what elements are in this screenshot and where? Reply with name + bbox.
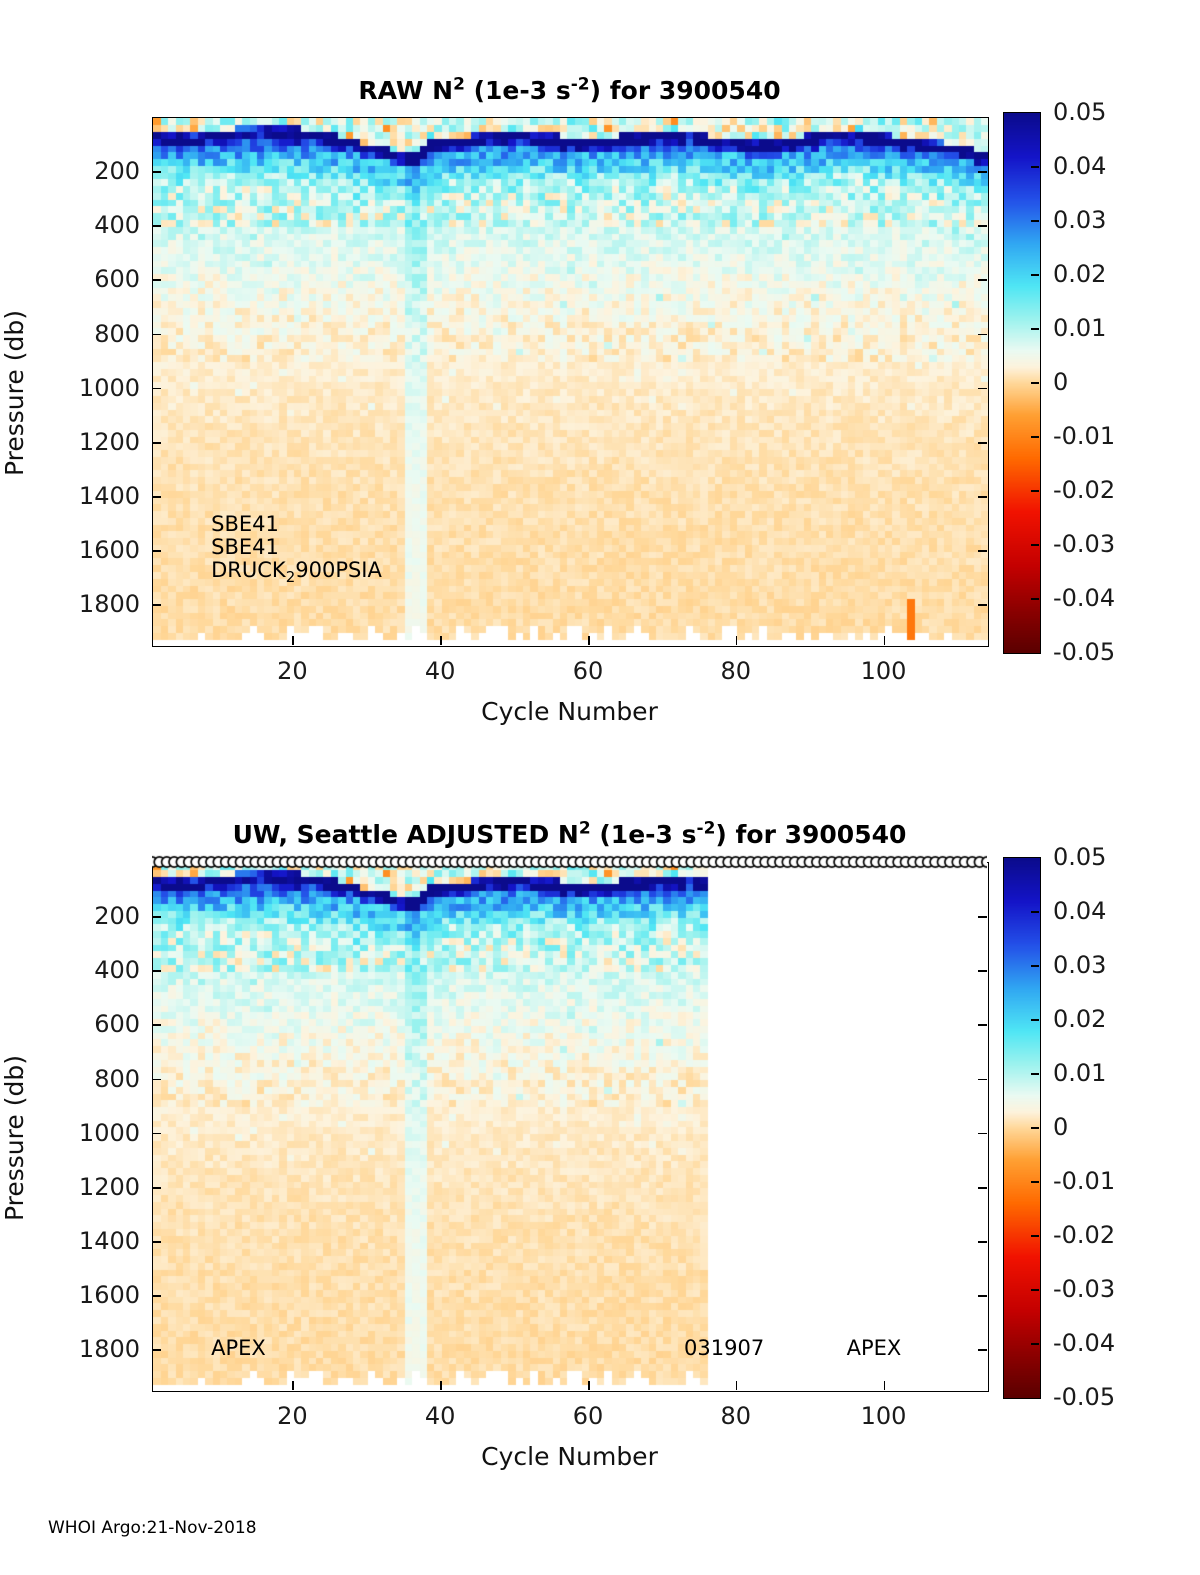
y-tick-right bbox=[978, 334, 987, 336]
y-tick-label: 800 bbox=[30, 1065, 140, 1093]
x-tick-label: 40 bbox=[425, 1402, 456, 1430]
colorbar-tick-label: -0.01 bbox=[1053, 422, 1115, 450]
pressure-sensor: DRUCK2900PSIA bbox=[211, 558, 382, 582]
sensor-model-2: SBE41 bbox=[211, 535, 279, 559]
colorbar-tick bbox=[1031, 965, 1039, 967]
colorbar-tick-label: -0.01 bbox=[1053, 1167, 1115, 1195]
x-tick-label: 20 bbox=[277, 657, 308, 685]
x-tick-label: 20 bbox=[277, 1402, 308, 1430]
colorbar-tick-label: 0.03 bbox=[1053, 206, 1106, 234]
colorbar-tick-label: -0.04 bbox=[1053, 584, 1115, 612]
y-tick-right bbox=[978, 496, 987, 498]
y-tick bbox=[152, 1187, 161, 1189]
y-tick-label: 200 bbox=[30, 157, 140, 185]
colorbar-tick bbox=[1031, 220, 1039, 222]
colorbar-tick-label: 0.04 bbox=[1053, 897, 1106, 925]
y-tick-label: 600 bbox=[30, 265, 140, 293]
y-tick bbox=[152, 1241, 161, 1243]
colorbar-tick bbox=[1031, 1343, 1039, 1345]
x-tick-label: 40 bbox=[425, 657, 456, 685]
x-tick-label: 60 bbox=[573, 1402, 604, 1430]
colorbar-tick bbox=[1031, 382, 1039, 384]
float-type-right: APEX bbox=[847, 1336, 902, 1360]
heatmap-axes-adjusted[interactable] bbox=[152, 862, 989, 1392]
colorbar-tick-label: -0.05 bbox=[1053, 638, 1115, 666]
y-tick bbox=[152, 279, 161, 281]
y-tick bbox=[152, 604, 161, 606]
colorbar-tick-label: -0.03 bbox=[1053, 530, 1115, 558]
colorbar-tick-label: -0.03 bbox=[1053, 1275, 1115, 1303]
colorbar-tick-label: 0.01 bbox=[1053, 1059, 1106, 1087]
y-tick bbox=[152, 496, 161, 498]
x-tick bbox=[440, 1381, 442, 1390]
colorbar-tick bbox=[1031, 1181, 1039, 1183]
colorbar-tick bbox=[1031, 436, 1039, 438]
colorbar-tick bbox=[1031, 911, 1039, 913]
y-tick-label: 1400 bbox=[30, 482, 140, 510]
colorbar-tick-label: 0.04 bbox=[1053, 152, 1106, 180]
wmo-secondary: 031907 bbox=[684, 1336, 764, 1360]
footer-credit: WHOI Argo:21-Nov-2018 bbox=[48, 1518, 257, 1538]
y-tick-right bbox=[978, 171, 987, 173]
y-axis-label-raw: Pressure (db) bbox=[0, 310, 29, 476]
x-tick bbox=[292, 1381, 294, 1390]
colorbar-tick-label: 0.01 bbox=[1053, 314, 1106, 342]
y-tick-right bbox=[978, 1187, 987, 1189]
y-tick-right bbox=[978, 970, 987, 972]
colorbar-tick bbox=[1031, 274, 1039, 276]
x-tick-label: 100 bbox=[861, 1402, 907, 1430]
plot-title-adjusted: UW, Seattle ADJUSTED N2 (1e-3 s-2) for 3… bbox=[152, 820, 987, 849]
colorbar-tick-label: 0.02 bbox=[1053, 260, 1106, 288]
y-tick bbox=[152, 1295, 161, 1297]
y-tick-label: 600 bbox=[30, 1010, 140, 1038]
colorbar-tick-label: -0.05 bbox=[1053, 1383, 1115, 1411]
y-tick-right bbox=[978, 1133, 987, 1135]
x-tick bbox=[736, 636, 738, 645]
y-tick-right bbox=[978, 388, 987, 390]
colorbar-tick-label: -0.02 bbox=[1053, 476, 1115, 504]
y-tick-label: 200 bbox=[30, 902, 140, 930]
y-tick bbox=[152, 171, 161, 173]
colorbar-tick bbox=[1031, 1289, 1039, 1291]
y-tick-right bbox=[978, 604, 987, 606]
colorbar-tick-label: 0.02 bbox=[1053, 1005, 1106, 1033]
y-tick bbox=[152, 916, 161, 918]
x-tick-label: 80 bbox=[720, 1402, 751, 1430]
y-tick-right bbox=[978, 1024, 987, 1026]
y-tick-label: 400 bbox=[30, 211, 140, 239]
x-tick bbox=[588, 636, 590, 645]
y-tick bbox=[152, 225, 161, 227]
cycle-marker-row bbox=[152, 854, 987, 870]
colorbar-tick bbox=[1031, 1127, 1039, 1129]
colorbar-tick-label: 0 bbox=[1053, 1113, 1068, 1141]
float-type-left: APEX bbox=[211, 1336, 266, 1360]
y-tick-label: 1200 bbox=[30, 428, 140, 456]
x-tick-label: 80 bbox=[720, 657, 751, 685]
y-tick-right bbox=[978, 279, 987, 281]
x-tick bbox=[884, 636, 886, 645]
colorbar-tick bbox=[1031, 1019, 1039, 1021]
y-tick-label: 1000 bbox=[30, 374, 140, 402]
y-tick-label: 1200 bbox=[30, 1173, 140, 1201]
heatmap-image-adjusted bbox=[153, 863, 988, 1391]
y-tick-label: 1600 bbox=[30, 536, 140, 564]
y-tick-right bbox=[978, 225, 987, 227]
y-tick-right bbox=[978, 916, 987, 918]
y-tick-label: 1000 bbox=[30, 1119, 140, 1147]
colorbar-tick bbox=[1031, 544, 1039, 546]
y-tick bbox=[152, 1349, 161, 1351]
y-tick-label: 1600 bbox=[30, 1281, 140, 1309]
x-tick bbox=[292, 636, 294, 645]
plot-title-raw: RAW N2 (1e-3 s-2) for 3900540 bbox=[152, 76, 987, 105]
colorbar-tick-label: 0 bbox=[1053, 368, 1068, 396]
y-tick-right bbox=[978, 1295, 987, 1297]
x-tick bbox=[440, 636, 442, 645]
y-axis-label-adjusted: Pressure (db) bbox=[0, 1055, 29, 1221]
y-tick bbox=[152, 1079, 161, 1081]
y-tick-right bbox=[978, 1349, 987, 1351]
cycle-marker-circles-icon bbox=[152, 854, 987, 870]
y-tick bbox=[152, 388, 161, 390]
x-tick bbox=[588, 1381, 590, 1390]
y-tick-label: 1800 bbox=[30, 1335, 140, 1363]
y-tick-right bbox=[978, 442, 987, 444]
y-tick bbox=[152, 1133, 161, 1135]
colorbar-tick-label: 0.03 bbox=[1053, 951, 1106, 979]
y-tick-right bbox=[978, 1079, 987, 1081]
y-tick-label: 800 bbox=[30, 320, 140, 348]
y-tick bbox=[152, 550, 161, 552]
colorbar-tick bbox=[1031, 598, 1039, 600]
x-tick-label: 60 bbox=[573, 657, 604, 685]
y-tick-right bbox=[978, 1241, 987, 1243]
colorbar-tick bbox=[1031, 490, 1039, 492]
y-tick-label: 400 bbox=[30, 956, 140, 984]
colorbar-tick-label: -0.04 bbox=[1053, 1329, 1115, 1357]
x-tick bbox=[736, 1381, 738, 1390]
sensor-model-1: SBE41 bbox=[211, 512, 279, 536]
y-tick bbox=[152, 334, 161, 336]
y-tick bbox=[152, 970, 161, 972]
colorbar-tick bbox=[1031, 166, 1039, 168]
x-axis-label-adjusted: Cycle Number bbox=[481, 1442, 658, 1471]
y-tick bbox=[152, 442, 161, 444]
y-tick-label: 1400 bbox=[30, 1227, 140, 1255]
y-tick-right bbox=[978, 550, 987, 552]
x-tick bbox=[884, 1381, 886, 1390]
x-axis-label-raw: Cycle Number bbox=[481, 697, 658, 726]
colorbar-tick bbox=[1031, 1073, 1039, 1075]
y-tick bbox=[152, 1024, 161, 1026]
y-tick-label: 1800 bbox=[30, 590, 140, 618]
colorbar-tick-label: -0.02 bbox=[1053, 1221, 1115, 1249]
x-tick-label: 100 bbox=[861, 657, 907, 685]
colorbar-tick bbox=[1031, 1235, 1039, 1237]
colorbar-tick-label: 0.05 bbox=[1053, 98, 1106, 126]
colorbar-tick-label: 0.05 bbox=[1053, 843, 1106, 871]
colorbar-tick bbox=[1031, 328, 1039, 330]
